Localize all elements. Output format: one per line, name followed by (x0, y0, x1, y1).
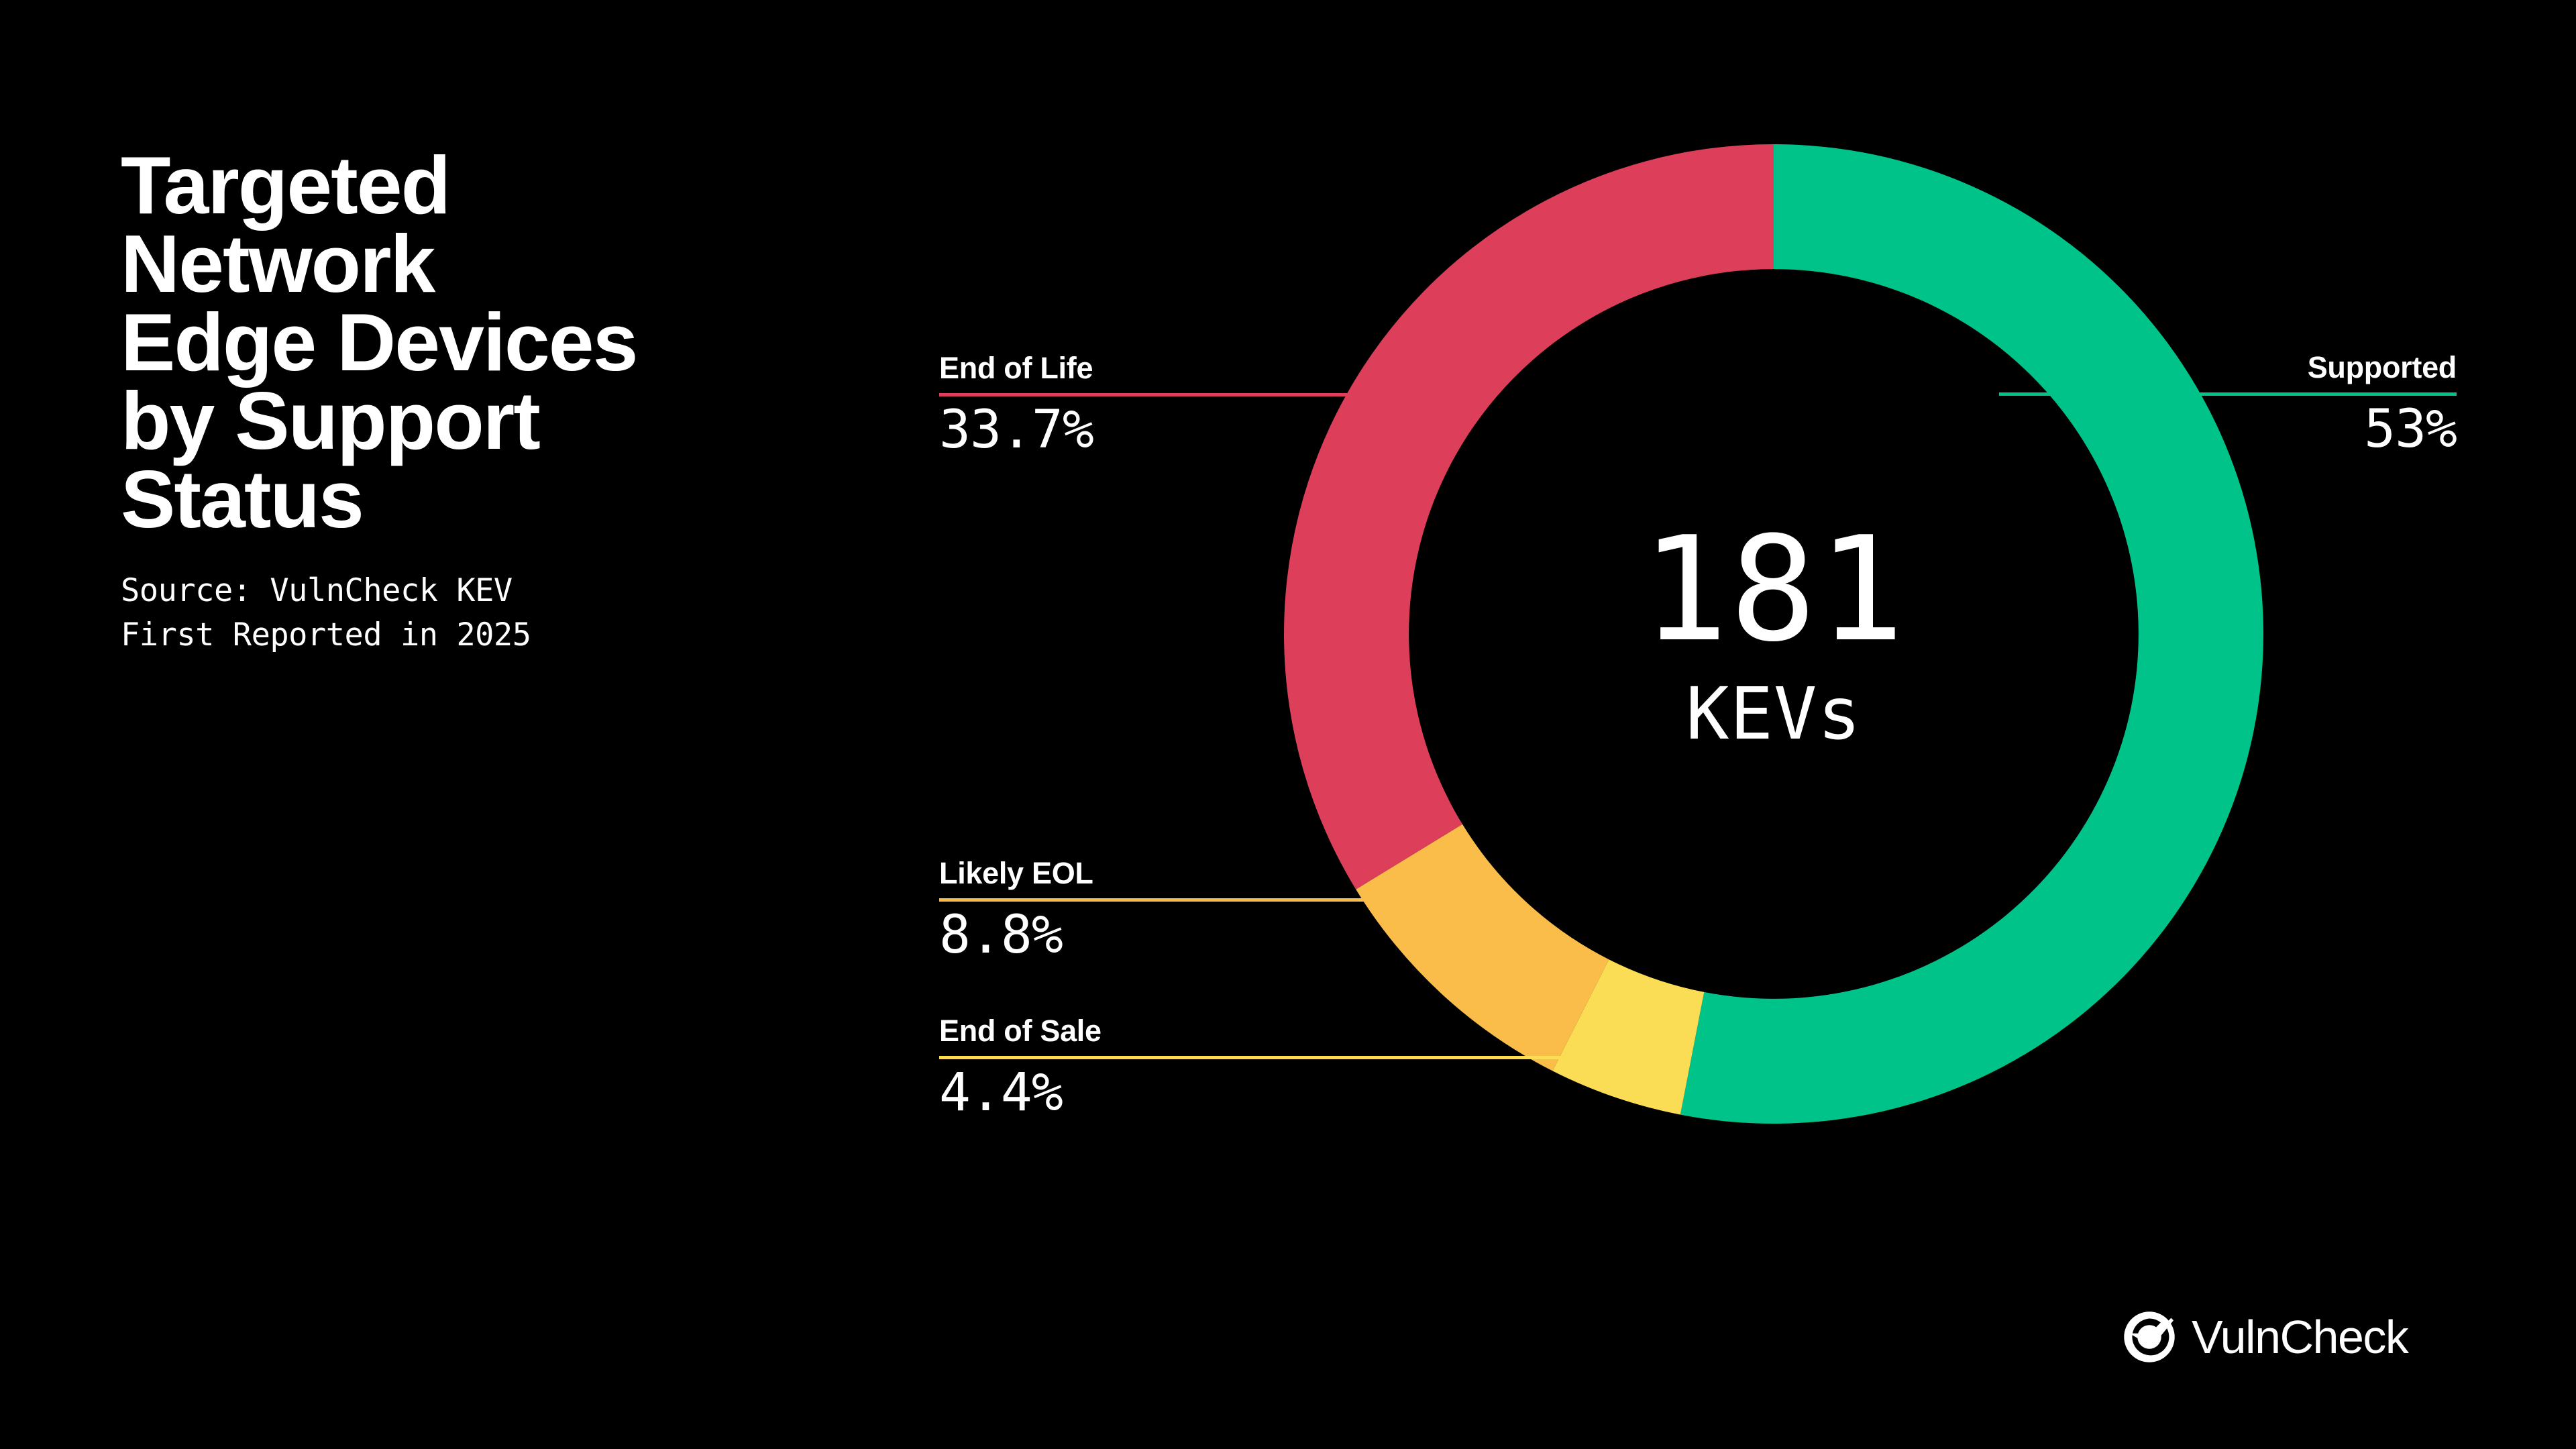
callout-value-likely-eol: 8.8% (939, 906, 1389, 966)
callout-rule-likely-eol (939, 898, 1389, 902)
callout-value-end-of-life: 33.7% (939, 400, 1352, 461)
callout-value-end-of-sale: 4.4% (939, 1063, 1625, 1124)
callout-rule-supported (1999, 392, 2457, 396)
callout-label-end-of-life: End of Life (939, 352, 1352, 384)
donut-slice-end-of-life[interactable] (1284, 144, 1774, 890)
donut-slice-supported[interactable] (1680, 144, 2263, 1124)
title-block: Targeted Network Edge Devices by Support… (121, 146, 872, 658)
callout-likely-eol: Likely EOL 8.8% (939, 857, 1389, 966)
callout-supported: Supported 53% (1999, 352, 2457, 460)
callout-label-end-of-sale: End of Sale (939, 1015, 1625, 1046)
callout-label-supported: Supported (1999, 352, 2457, 383)
callout-rule-end-of-sale (939, 1056, 1625, 1059)
callout-value-supported: 53% (1999, 400, 2457, 460)
callout-label-likely-eol: Likely EOL (939, 857, 1389, 889)
infographic-canvas: Targeted Network Edge Devices by Support… (0, 0, 2576, 1449)
vulncheck-check-circle-icon (2122, 1309, 2177, 1364)
callout-end-of-life: End of Life 33.7% (939, 352, 1352, 461)
donut-svg (1284, 144, 2263, 1124)
brand-logo: VulnCheck (2122, 1309, 2408, 1364)
brand-wordmark: VulnCheck (2192, 1313, 2408, 1360)
source-note: Source: VulnCheck KEV First Reported in … (121, 569, 872, 658)
callout-rule-end-of-life (939, 393, 1352, 396)
donut-chart: 181 KEVs (1284, 144, 2263, 1124)
donut-slice-group (1284, 144, 2263, 1124)
page-title: Targeted Network Edge Devices by Support… (121, 146, 872, 539)
callout-end-of-sale: End of Sale 4.4% (939, 1015, 1625, 1124)
